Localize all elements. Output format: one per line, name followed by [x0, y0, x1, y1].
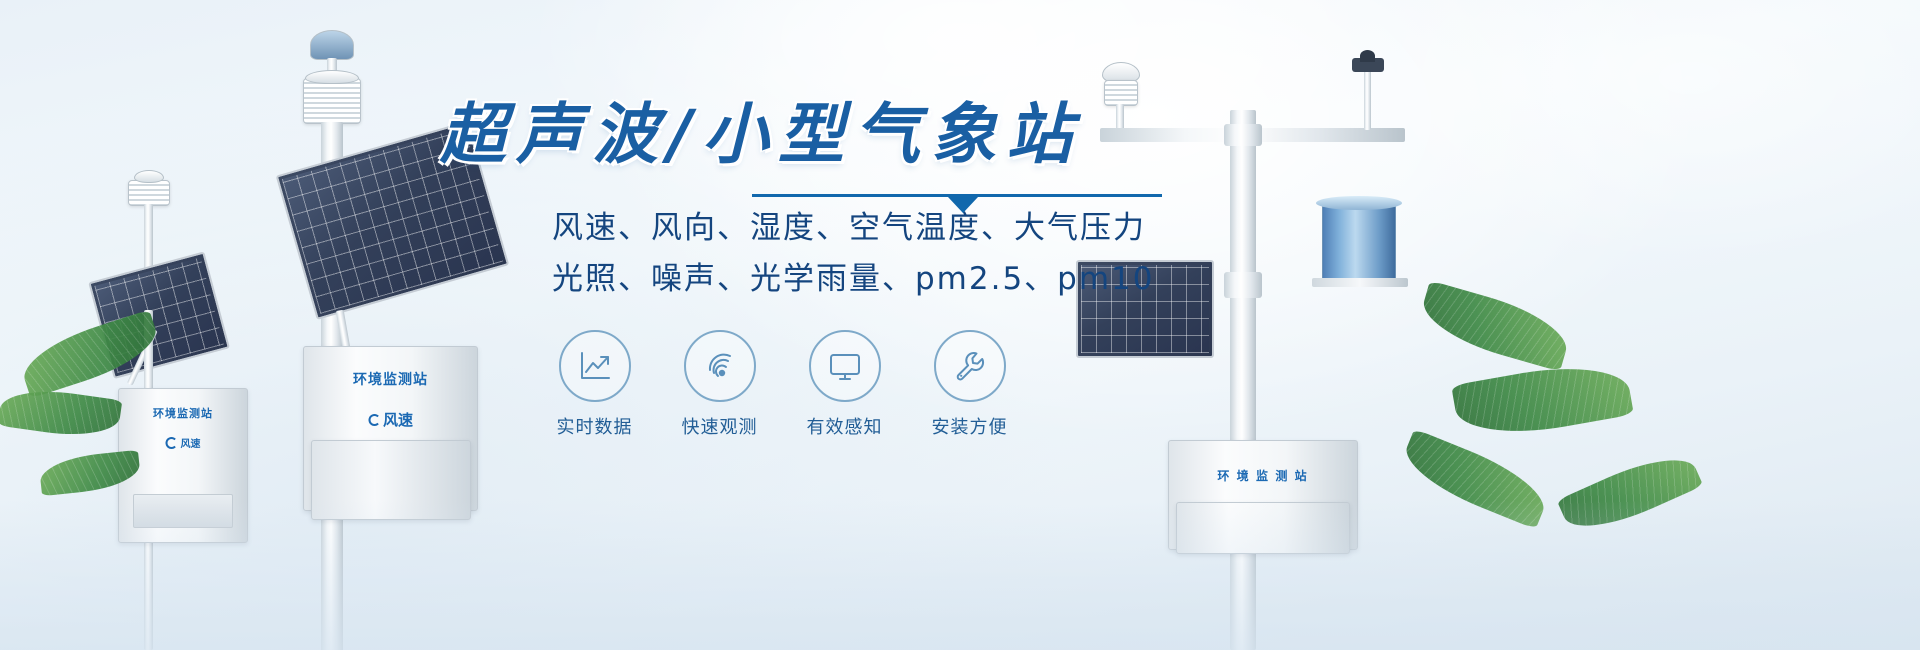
ultrasonic-sensor-dome: [310, 30, 354, 60]
vane-fin: [1360, 50, 1375, 62]
shield-top-center: [305, 70, 359, 84]
brand-text-left: 风速: [181, 435, 201, 450]
banner-content: 超声波/小型气象站 风速、风向、湿度、空气温度、大气压力 光照、噪声、光学雨量、…: [440, 100, 1180, 439]
brand-mark-icon-center: [368, 414, 380, 426]
enclosure-lower-right: [1176, 502, 1350, 554]
feature-icon-circle: [559, 330, 631, 402]
divider-arrow-icon: [948, 197, 978, 213]
rain-gauge-funnel: [1316, 196, 1402, 210]
feature-label: 有效感知: [802, 413, 887, 439]
feature-icon-circle: [684, 330, 756, 402]
line-chart-icon: [577, 348, 613, 384]
banner-subtitle-line-2: 光照、噪声、光学雨量、pm2.5、pm10: [552, 254, 1180, 304]
signal-wave-icon: [702, 348, 738, 384]
enclosure-label-left: 环境监测站: [153, 405, 213, 421]
wrench-icon: [952, 348, 988, 384]
brand-left: 风速: [166, 435, 201, 450]
rain-gauge-bracket: [1312, 278, 1408, 287]
banner-title: 超声波/小型气象站: [440, 100, 1180, 169]
mast-collar-mid-right: [1224, 272, 1262, 298]
sensor-cap-left: [134, 170, 164, 183]
monitor-icon: [827, 348, 863, 384]
feature-label: 安装方便: [927, 413, 1012, 439]
radiation-shield-center: [303, 78, 361, 124]
feature-icon-circle: [809, 330, 881, 402]
brand-text-center: 风速: [383, 409, 413, 430]
enclosure-lower-center: [311, 440, 471, 520]
title-divider: [752, 191, 1162, 203]
feature-item-easy-installation[interactable]: 安装方便: [927, 330, 1012, 439]
brand-mark-icon-left: [166, 437, 178, 449]
brand-center: 风速: [368, 409, 413, 430]
product-banner: 环境监测站 风速 环境监测站 风速: [0, 0, 1920, 650]
feature-label: 快速观测: [677, 413, 762, 439]
enclosure-label-center: 环境监测站: [353, 369, 428, 389]
feature-list: 实时数据 快速观测: [552, 330, 1180, 439]
vane-mast-right: [1364, 66, 1371, 130]
rain-gauge-right: [1322, 202, 1396, 284]
feature-icon-circle: [934, 330, 1006, 402]
mast-collar-top-right: [1224, 124, 1262, 146]
enclosure-label-right: 环 境 监 测 站: [1217, 467, 1308, 484]
feature-item-realtime-data[interactable]: 实时数据: [552, 330, 637, 439]
feature-item-fast-observation[interactable]: 快速观测: [677, 330, 762, 439]
mast-right: [1230, 110, 1256, 650]
feature-label: 实时数据: [552, 413, 637, 439]
leaf-decoration-right-4: [1557, 444, 1704, 543]
vent-left: [133, 494, 233, 528]
feature-item-effective-sensing[interactable]: 有效感知: [802, 330, 887, 439]
radiation-shield-left: [128, 180, 170, 206]
banner-subtitle-line-1: 风速、风向、湿度、空气温度、大气压力: [552, 203, 1180, 253]
